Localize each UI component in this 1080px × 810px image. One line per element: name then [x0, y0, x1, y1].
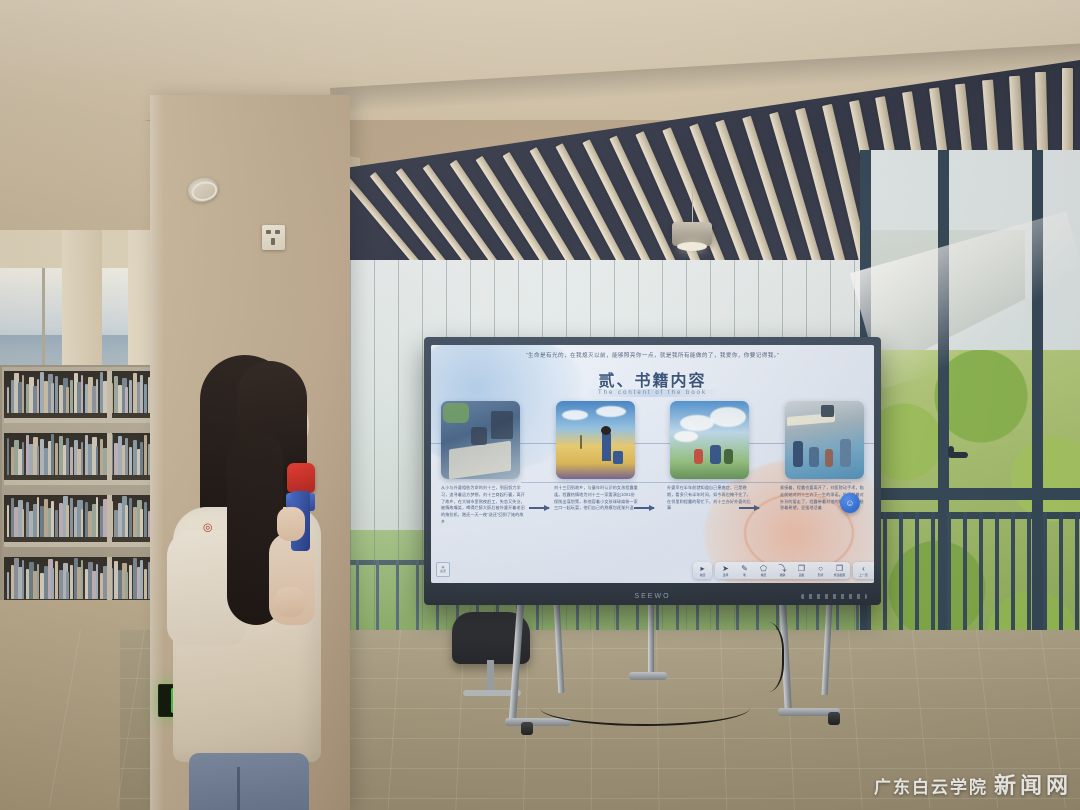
book-spine — [129, 447, 132, 475]
toolbar-tool[interactable]: ⤵撤销 — [775, 564, 790, 577]
book-spine — [81, 509, 83, 537]
book-spine — [96, 379, 98, 413]
book-spine — [140, 509, 142, 537]
prev-page-label: 上一页 — [859, 574, 867, 577]
book-spine — [66, 505, 68, 537]
tool-icon: ○ — [818, 564, 823, 573]
book-spine — [22, 509, 24, 537]
bookshelf-row — [4, 495, 174, 547]
book-spine — [37, 497, 39, 537]
toolbar-collapse-label: 收起 — [700, 574, 706, 577]
chevron-right-icon: ▸ — [700, 564, 704, 573]
book-spine — [125, 572, 127, 599]
toolbar-tool[interactable]: ✎笔 — [737, 564, 752, 577]
tool-label: 框选截图 — [834, 574, 845, 577]
toolbar-nav-group[interactable]: ‹ 上一页 4/7 页码 › 下一页 — [853, 562, 874, 579]
floor-tile-line — [848, 630, 863, 810]
window-handle[interactable] — [948, 452, 968, 458]
book-spine — [55, 561, 58, 599]
tool-label: 撤销 — [780, 574, 786, 577]
watermark-institution: 广东白云学院 — [874, 773, 988, 798]
book-spine — [96, 564, 98, 599]
jeans — [189, 753, 309, 810]
book-spine — [22, 442, 24, 475]
slide-quote: “生命是有光的，在我熄灭以前，能够照亮你一点，就是我所有能做的了，我爱你，你要记… — [431, 351, 874, 359]
microphone-windscreen — [287, 463, 315, 493]
bookshelf-row — [4, 433, 174, 485]
wall-socket[interactable] — [262, 225, 285, 250]
toolbar-collapse-button[interactable]: ▸ 收起 — [693, 562, 712, 579]
railing-top-bar — [862, 512, 1080, 519]
assistant-icon[interactable]: ☺ — [840, 493, 860, 513]
watermark: 广东白云学院 新闻网 — [874, 768, 1072, 800]
tool-icon: ✎ — [741, 564, 748, 573]
book-spine — [129, 498, 132, 537]
slide-paragraph: 刘十三回到故乡，与童年时认识的女孩程露重逢。程露热情地为刘十三一家要演出1001… — [554, 485, 638, 565]
slide-paragraph: 从小与外婆相依为命的刘十三，到因努力学习，追寻着远方梦想，刘十三商起行囊，离开了… — [441, 485, 525, 565]
tv-stand-leg — [648, 603, 654, 675]
tool-icon: ❐ — [836, 564, 843, 573]
book-spine — [81, 442, 83, 475]
book-spine — [70, 380, 73, 413]
floor-tile-line — [387, 630, 401, 810]
toolbar-tool[interactable]: ❐框选截图 — [832, 564, 847, 577]
book-spine — [144, 502, 147, 537]
book-spine — [70, 498, 73, 537]
stand-caster — [828, 712, 840, 725]
book-spine — [125, 505, 127, 537]
book-spine — [140, 375, 142, 413]
pendant-light — [672, 222, 712, 246]
arrow-right-icon — [739, 507, 759, 509]
stand-caster — [521, 722, 533, 735]
bookshelf — [0, 365, 175, 625]
book-spine — [125, 387, 127, 413]
book-spine — [96, 497, 98, 537]
slide-image-row — [441, 401, 864, 481]
arrow-right-icon — [529, 507, 549, 509]
window-mullion — [42, 268, 45, 373]
shelf-divider — [107, 495, 112, 542]
slide-paragraph-row: 从小与外婆相依为命的刘十三，到因努力学习，追寻着远方梦想，刘十三商起行囊，离开了… — [441, 485, 864, 565]
book-spine — [129, 380, 132, 413]
book-spine — [37, 564, 39, 599]
book-spine — [144, 569, 147, 599]
book-spine — [140, 442, 142, 475]
book-spine — [51, 568, 53, 599]
interactive-display[interactable]: “生命是有光的，在我熄灭以前，能够照亮你一点，就是我所有能做的了，我爱你，你要记… — [424, 337, 881, 605]
book-spine — [22, 560, 24, 599]
tool-label: 画板 — [799, 574, 805, 577]
book-spine — [22, 375, 24, 413]
slide-image — [441, 401, 520, 479]
book-spine — [96, 446, 98, 475]
book-spine — [7, 572, 9, 599]
tool-icon: ❐ — [798, 564, 805, 573]
glass-mullion — [374, 260, 375, 680]
tool-label: 笔 — [743, 574, 746, 577]
book-spine — [51, 383, 53, 413]
slide-overview-button[interactable]: ▤ 总览 — [436, 562, 450, 577]
power-cable — [744, 622, 784, 692]
book-spine — [66, 572, 68, 599]
book-spine — [129, 565, 132, 599]
toolbar-tool[interactable]: ➤选择 — [718, 564, 733, 577]
overview-label: 总览 — [440, 570, 446, 573]
slide-subtitle: The content of the book — [584, 389, 721, 397]
slide-title: 贰、书籍内容 — [431, 367, 874, 391]
watermark-outlet: 新闻网 — [994, 768, 1072, 800]
toolbar-tool[interactable]: ❐画板 — [794, 564, 809, 577]
book-spine — [144, 435, 147, 475]
ir-sensor-strip — [801, 594, 867, 599]
tool-icon: ⬠ — [760, 564, 767, 573]
book-spine — [55, 443, 58, 475]
slide-paragraph: 外婆早在半年前就知道自己患癌症，已是晚期，看多只有半年时间，如今再也掩不住了。在… — [667, 485, 751, 565]
toolbar-tool[interactable]: ⬠橡皮 — [756, 564, 771, 577]
book-spine — [7, 505, 9, 537]
photo-scene: “生命是有光的，在我熄灭以前，能够照亮你一点，就是我所有能做的了，我爱你，你要记… — [0, 0, 1080, 810]
bookshelf-row — [4, 371, 174, 423]
slide-image — [556, 401, 635, 479]
prev-page-button[interactable]: ‹ 上一页 — [856, 564, 871, 577]
tool-label: 橡皮 — [761, 574, 767, 577]
pendant-light-wire — [692, 190, 693, 225]
book-spine — [51, 501, 53, 537]
book-spine — [144, 384, 147, 413]
timeline-line-secondary — [521, 482, 851, 483]
power-cable — [540, 690, 750, 726]
book-spine — [81, 375, 83, 413]
book-spine — [125, 438, 127, 475]
window-frame — [860, 488, 1080, 500]
tool-label: 选择 — [723, 574, 729, 577]
chair-stem — [487, 660, 494, 692]
book-spine — [81, 560, 83, 599]
tv-stand-foot — [505, 718, 571, 726]
book-spine — [140, 560, 142, 599]
shelf-divider — [107, 433, 112, 480]
book-spine — [37, 446, 39, 475]
tool-icon: ⤵ — [779, 564, 787, 573]
presenter: ◎ — [165, 355, 355, 810]
shelf-divider — [107, 371, 112, 418]
hand — [277, 507, 305, 541]
tool-icon: ➤ — [722, 564, 729, 573]
chevron-left-icon: ‹ — [862, 564, 865, 573]
tv-stand-crossbar — [629, 672, 667, 680]
seewo-toolbar[interactable]: ▸ 收起 ➤选择✎笔⬠橡皮⤵撤销❐画板○形状❐框选截图 ‹ 上一页 4/7 页码 — [693, 562, 874, 579]
hand — [275, 587, 305, 617]
book-spine — [55, 376, 58, 413]
book-spine — [66, 438, 68, 475]
slide-image — [670, 401, 749, 479]
presentation-screen[interactable]: “生命是有光的，在我熄灭以前，能够照亮你一点，就是我所有能做的了，我爱你，你要记… — [431, 345, 874, 583]
book-spine — [70, 447, 73, 475]
shelf-divider — [107, 557, 112, 604]
book-spine — [7, 387, 9, 413]
book-spine — [37, 379, 39, 413]
book-spine — [70, 565, 73, 599]
tool-label: 形状 — [818, 574, 824, 577]
shirt-logo: ◎ — [202, 519, 226, 537]
toolbar-tool[interactable]: ○形状 — [813, 564, 828, 577]
floor-tile-line — [116, 630, 145, 808]
book-spine — [55, 510, 58, 537]
book-spine — [51, 434, 53, 475]
book-spine — [66, 387, 68, 413]
jeans-seam — [237, 767, 240, 810]
glass-mullion — [422, 260, 423, 680]
arrow-right-icon — [634, 507, 654, 509]
book-spine — [7, 438, 9, 475]
slide-image — [785, 401, 864, 479]
toolbar-tools-group[interactable]: ➤选择✎笔⬠橡皮⤵撤销❐画板○形状❐框选截图 — [715, 562, 850, 579]
